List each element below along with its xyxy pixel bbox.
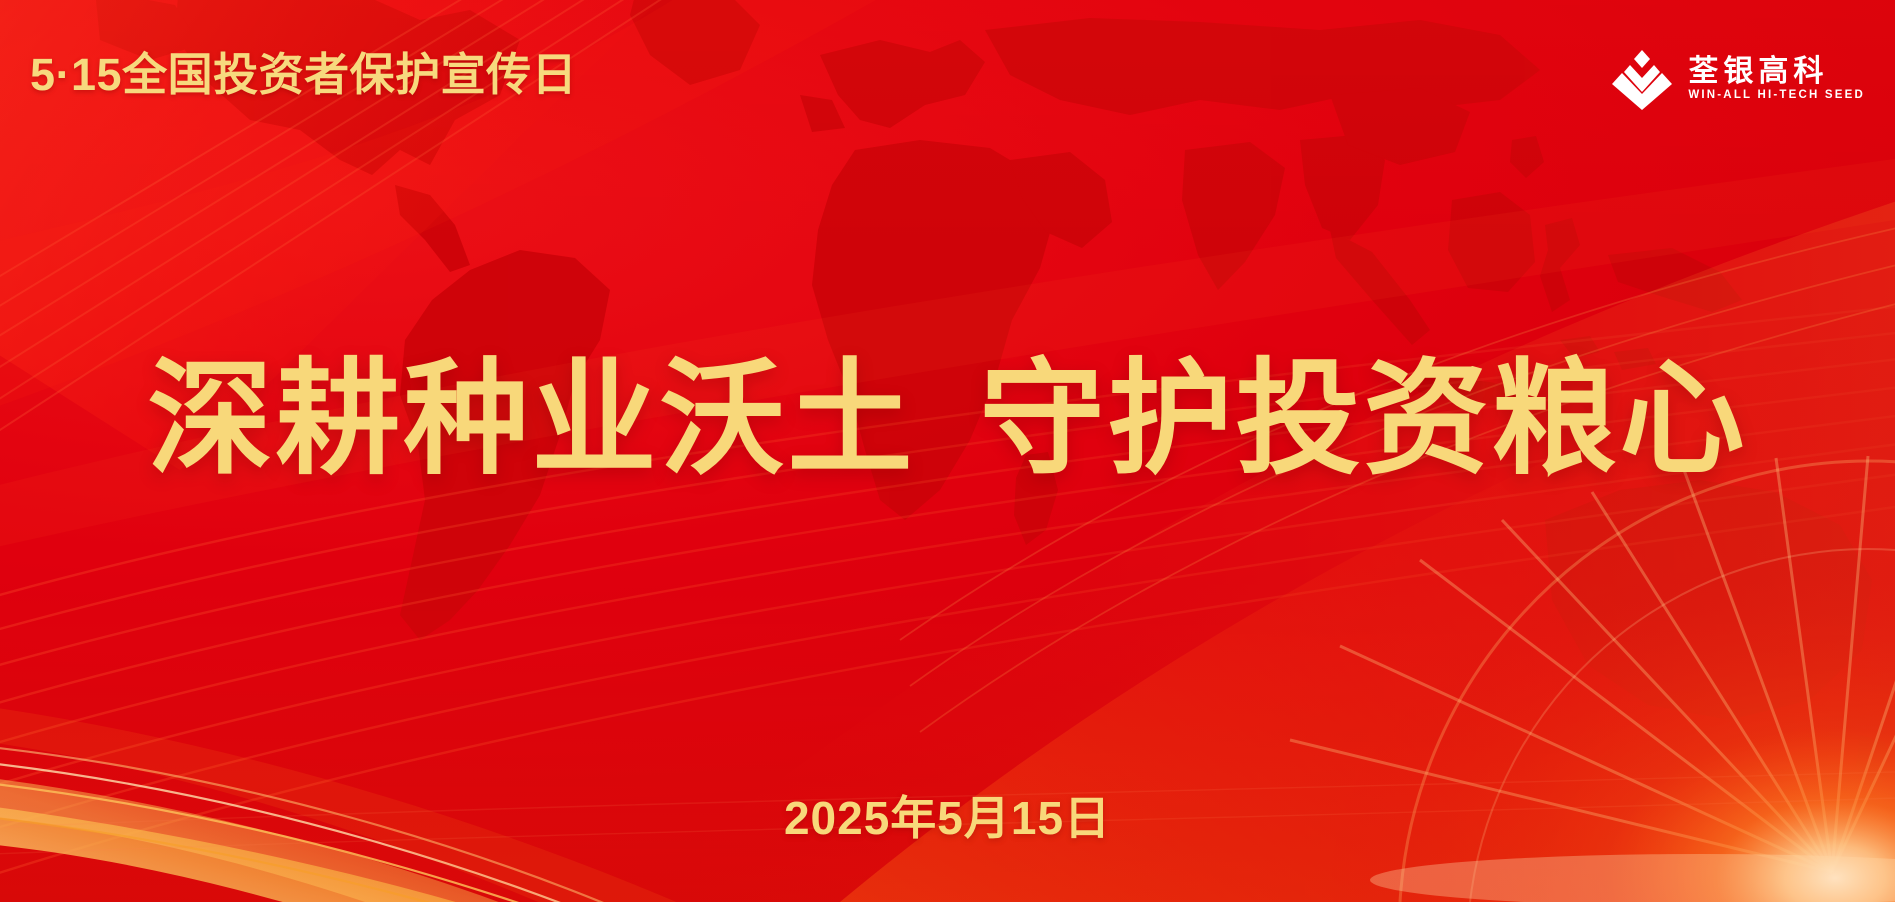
logo-company-name-cn: 荃银高科 (1688, 57, 1865, 87)
event-date: 2025年5月15日 (0, 795, 1895, 841)
campaign-kicker-title: 5·15全国投资者保护宣传日 (30, 52, 577, 97)
main-headline: 深耕种业沃土守护投资粮心 (0, 350, 1895, 490)
headline-part-b: 守护投资粮心 (980, 350, 1748, 489)
investor-protection-banner: 5·15全国投资者保护宣传日 荃银高科 WIN-ALL HI-TECH SEED… (0, 0, 1895, 902)
chevron-seed-logo-icon (1610, 48, 1674, 110)
headline-part-a: 深耕种业沃土 (148, 350, 916, 489)
logo-company-name-en: WIN-ALL HI-TECH SEED (1688, 90, 1865, 102)
company-logo-lockup: 荃银高科 WIN-ALL HI-TECH SEED (1610, 46, 1865, 112)
logo-wordmark: 荃银高科 WIN-ALL HI-TECH SEED (1688, 57, 1865, 102)
